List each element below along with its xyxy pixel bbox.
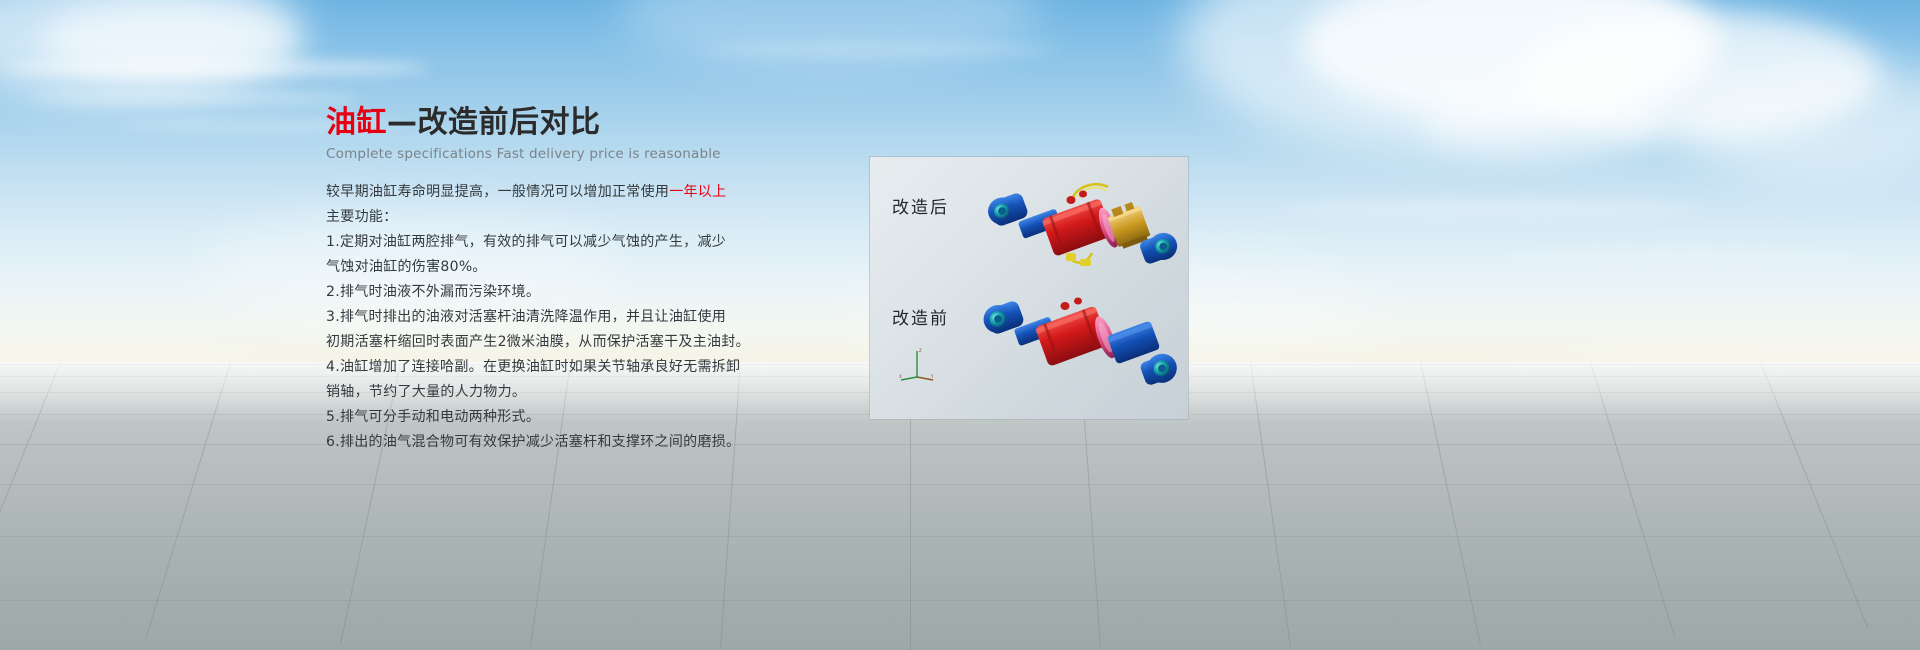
svg-text:Y: Y [930,374,934,379]
body-line-text: 气蚀对油缸的伤害80%。 [326,259,487,275]
body-line-text: 5.排气可分手动和电动两种形式。 [326,409,540,425]
banner-stage: 油缸—改造前后对比 Complete specifications Fast d… [0,0,1920,650]
body-line: 销轴，节约了大量的人力物力。 [326,380,746,405]
body-line-text: 1.定期对油缸两腔排气，有效的排气可以减少气蚀的产生，减少 [326,234,726,250]
body-line: 2.排气时油液不外漏而污染环境。 [326,280,746,305]
body-line-text: 6.排出的油气混合物可有效保护减少活塞杆和支撑环之间的磨损。 [326,434,740,450]
body-line: 主要功能： [326,205,746,230]
svg-text:Z: Z [919,348,922,353]
body-line-text: 2.排气时油液不外漏而污染环境。 [326,284,540,300]
body-line: 5.排气可分手动和电动两种形式。 [326,405,746,430]
page-subtitle: Complete specifications Fast delivery pr… [326,146,746,162]
body-line-text: 4.油缸增加了连接哈副。在更换油缸时如果关节轴承良好无需拆卸 [326,359,740,375]
body-line: 初期活塞杆缩回时表面产生2微米油膜，从而保护活塞干及主油封。 [326,330,746,355]
page-title-rest: —改造前后对比 [387,105,601,140]
label-before-modification: 改造前 [892,304,949,329]
axis-triad-icon: Z X Y [898,347,936,381]
body-line: 4.油缸增加了连接哈副。在更换油缸时如果关节轴承良好无需拆卸 [326,355,746,380]
body-line-text: 销轴，节约了大量的人力物力。 [326,384,526,400]
body-line-emphasis: 一年以上 [669,184,726,200]
body-line-text: 3.排气时排出的油液对活塞杆油清洗降温作用，并且让油缸使用 [326,309,726,325]
product-comparison-image: 改造后 改造前 Z X Y [870,157,1188,419]
body-line: 较早期油缸寿命明显提高，一般情况可以增加正常使用一年以上 [326,180,746,205]
cylinder-after-render [974,169,1180,281]
page-title: 油缸—改造前后对比 [326,106,746,140]
body-line: 6.排出的油气混合物可有效保护减少活塞杆和支撑环之间的磨损。 [326,430,746,455]
body-line: 1.定期对油缸两腔排气，有效的排气可以减少气蚀的产生，减少 [326,230,746,255]
body-line: 3.排气时排出的油液对活塞杆油清洗降温作用，并且让油缸使用 [326,305,746,330]
cylinder-before-render [970,283,1180,407]
body-line-text: 主要功能： [326,209,398,225]
label-after-modification: 改造后 [892,193,949,218]
svg-text:X: X [899,374,902,379]
feature-text-block: 较早期油缸寿命明显提高，一般情况可以增加正常使用一年以上 主要功能： 1.定期对… [326,180,746,455]
body-line-text: 较早期油缸寿命明显提高，一般情况可以增加正常使用 [326,184,669,200]
copy-block: 油缸—改造前后对比 Complete specifications Fast d… [326,106,746,455]
body-line: 气蚀对油缸的伤害80%。 [326,255,746,280]
body-line-text: 初期活塞杆缩回时表面产生2微米油膜，从而保护活塞干及主油封。 [326,334,750,350]
page-title-highlight: 油缸 [326,105,387,140]
